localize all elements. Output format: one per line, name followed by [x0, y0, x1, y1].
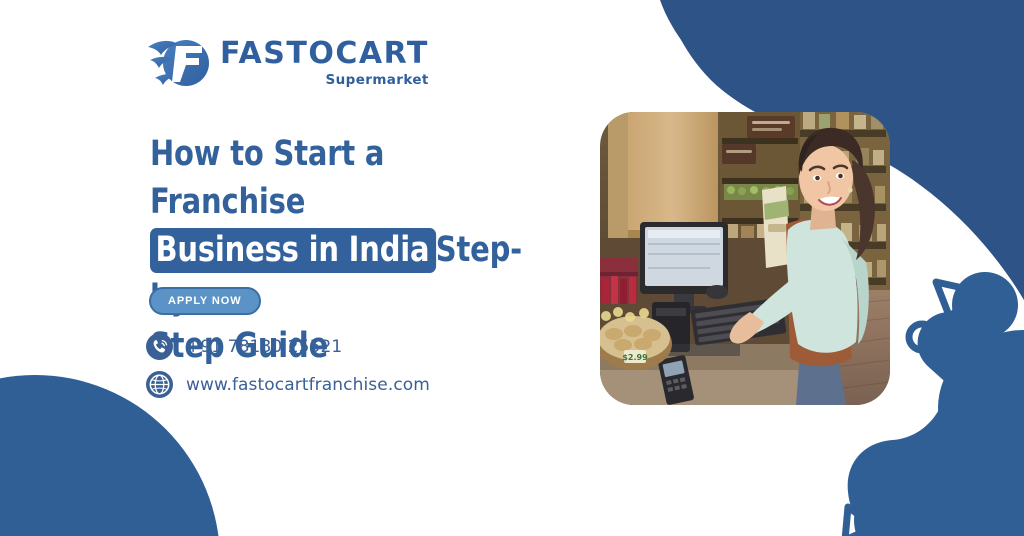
- triangle-outline-upper: [936, 282, 972, 318]
- phone-number: +91 78180 25521: [186, 337, 342, 357]
- franchise-promo-banner: FASTOCART Supermarket How to Start a Fra…: [0, 0, 1024, 536]
- globe-icon: [146, 371, 173, 398]
- blob-dot-mid-right: [854, 474, 946, 536]
- circle-filled-upper-right: [952, 272, 1018, 338]
- contact-row-phone[interactable]: +91 78180 25521: [146, 333, 430, 360]
- brand-logo[interactable]: FASTOCART Supermarket: [148, 34, 429, 92]
- website-url: www.fastocartfranchise.com: [186, 375, 430, 395]
- headline-highlight: Business in India: [150, 228, 436, 273]
- capsule-bar-shape: [905, 299, 1024, 452]
- apply-now-button[interactable]: APPLY NOW: [149, 287, 261, 315]
- cashier-photo: $2.99: [600, 112, 890, 405]
- blob-bottom-left: [0, 375, 220, 536]
- fastocart-swoosh-icon: [148, 34, 210, 92]
- circle-outline-shape: [909, 324, 935, 350]
- circle-filled-small-b: [923, 516, 957, 536]
- brand-tagline: Supermarket: [326, 74, 429, 88]
- phone-icon: [146, 333, 173, 360]
- svg-text:$2.99: $2.99: [622, 353, 648, 362]
- headline-line-1: How to Start a Franchise: [150, 134, 384, 222]
- contact-block: +91 78180 25521 www.fastocartfranchise.c…: [146, 333, 430, 398]
- brand-name: FASTOCART: [220, 39, 429, 69]
- blob-dot-large-right: [938, 336, 1024, 480]
- contact-row-website[interactable]: www.fastocartfranchise.com: [146, 371, 430, 398]
- triangle-outline-lower: [845, 507, 875, 536]
- circle-filled-small-a: [876, 447, 900, 471]
